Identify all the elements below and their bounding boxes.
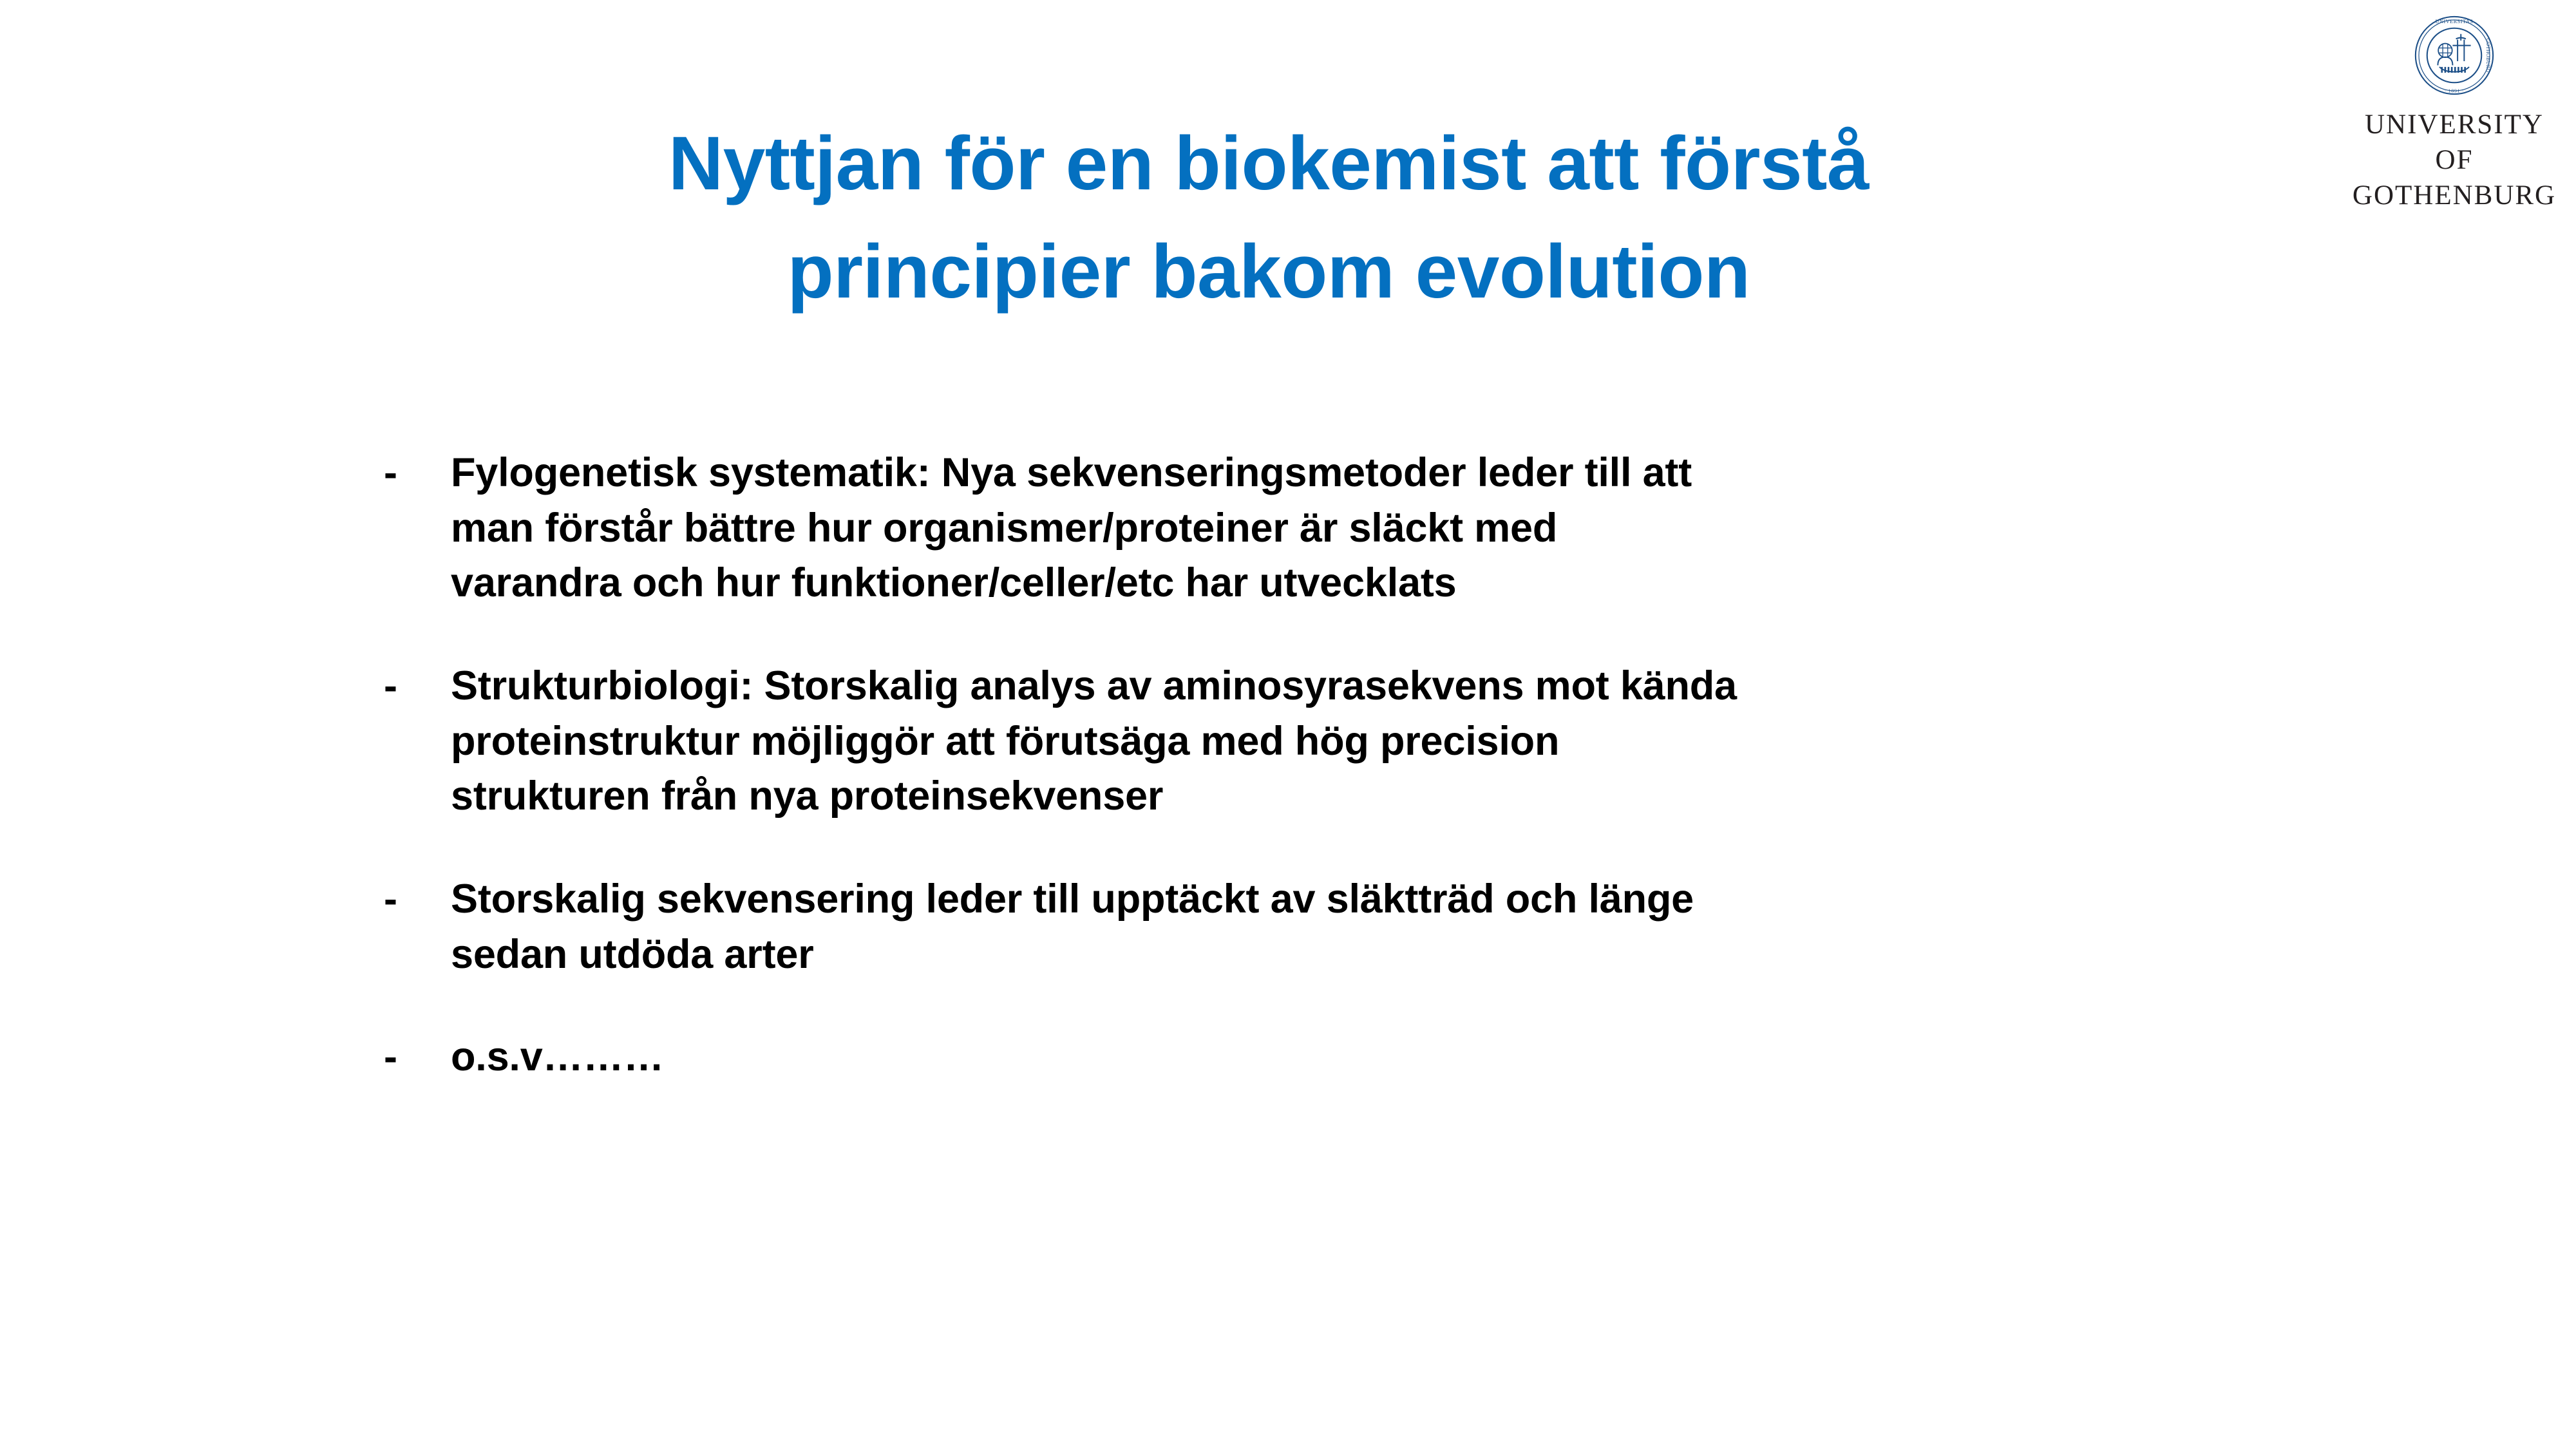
list-item-text: Strukturbiologi: Storskalig analys av am… <box>451 659 2303 824</box>
bullet-list: - Fylogenetisk systematik: Nya sekvenser… <box>384 446 2303 1085</box>
slide-title-line-1: Nyttjan för en biokemist att förstå <box>213 110 2325 218</box>
bullet-dash-marker: - <box>384 446 451 501</box>
bullet-dash-marker: - <box>384 872 451 927</box>
slide-title-line-2: principier bakom evolution <box>213 218 2325 327</box>
list-item: - Strukturbiologi: Storskalig analys av … <box>384 659 2303 824</box>
university-seal-icon: UNIVERSITAS · 1891 · GOTHOBURG <box>2413 14 2495 97</box>
list-item-text: Fylogenetisk systematik: Nya sekvenserin… <box>451 446 2303 611</box>
svg-text:UNIVERSITAS: UNIVERSITAS <box>2436 19 2474 24</box>
university-logo: UNIVERSITAS · 1891 · GOTHOBURG <box>2348 14 2561 213</box>
svg-text:· 1891 ·: · 1891 · <box>2445 88 2464 94</box>
list-item: - o.s.v……… <box>384 1030 2303 1085</box>
university-wordmark: UNIVERSITY OF GOTHENBURG <box>2348 107 2561 213</box>
bullet-dash-marker: - <box>384 659 451 714</box>
list-item-text: Storskalig sekvensering leder till upptä… <box>451 872 2303 982</box>
bullet-dash-marker: - <box>384 1030 451 1085</box>
slide-title: Nyttjan för en biokemist att förstå prin… <box>213 110 2325 326</box>
svg-text:GOTHOBURG: GOTHOBURG <box>2485 38 2491 72</box>
list-item-text: o.s.v……… <box>451 1030 2303 1085</box>
list-item: - Fylogenetisk systematik: Nya sekvenser… <box>384 446 2303 611</box>
list-item: - Storskalig sekvensering leder till upp… <box>384 872 2303 982</box>
slide-canvas: UNIVERSITAS · 1891 · GOTHOBURG <box>0 0 2576 1449</box>
